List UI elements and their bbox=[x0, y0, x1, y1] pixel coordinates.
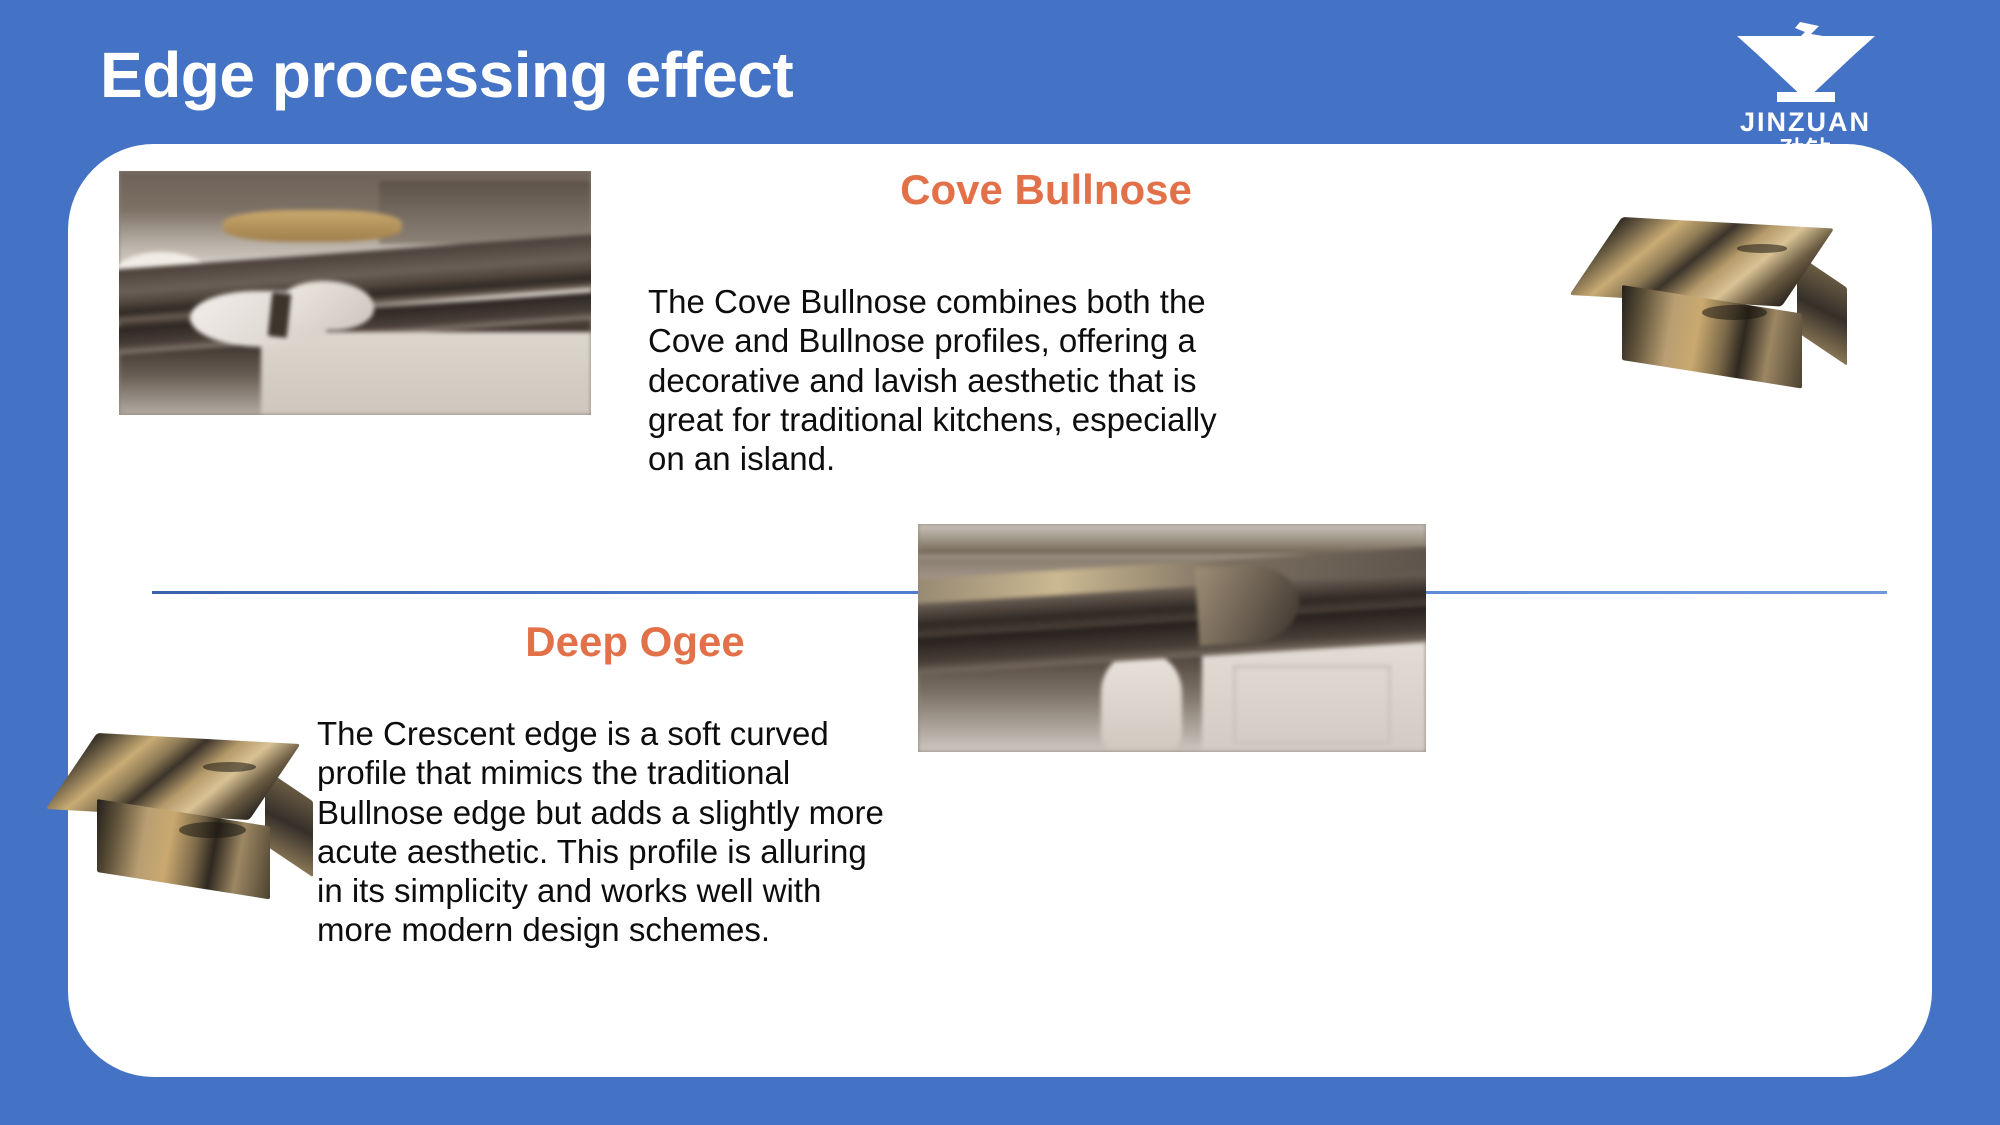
cove-bullnose-sample-block bbox=[1607, 210, 1857, 380]
cove-bullnose-photo bbox=[119, 171, 591, 415]
deep-ogee-photo bbox=[918, 524, 1426, 752]
deep-ogee-sample-block bbox=[83, 726, 323, 891]
page-title: Edge processing effect bbox=[100, 38, 793, 112]
deep-ogee-heading: Deep Ogee bbox=[440, 618, 830, 666]
logo-wordmark: JINZUAN bbox=[1740, 109, 1871, 136]
deep-ogee-body: The Crescent edge is a soft curved profi… bbox=[317, 714, 887, 950]
cove-bullnose-heading: Cove Bullnose bbox=[812, 166, 1280, 214]
slide-root: { "slide": { "title": "Edge processing e… bbox=[0, 0, 2000, 1125]
cove-bullnose-body: The Cove Bullnose combines both the Cove… bbox=[648, 282, 1248, 478]
v-drill-logo-icon bbox=[1731, 20, 1881, 108]
